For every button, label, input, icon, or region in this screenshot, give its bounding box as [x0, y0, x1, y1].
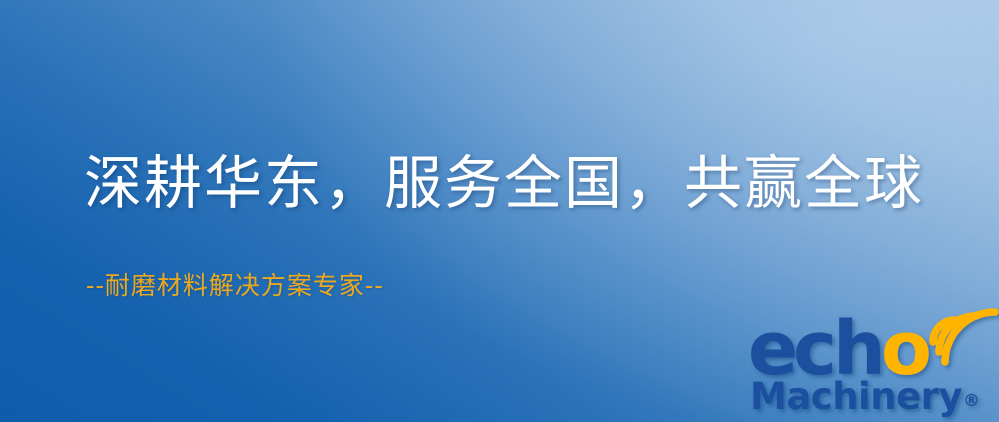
banner-subtitle: --耐磨材料解决方案专家--	[86, 266, 384, 302]
logo-machinery-text: Machinery	[750, 375, 962, 418]
wifi-signal-icon	[933, 312, 995, 362]
registered-trademark-icon: ®	[963, 391, 980, 411]
banner-headline: 深耕华东，服务全国，共赢全球	[84, 152, 924, 215]
promo-banner: 深耕华东，服务全国，共赢全球 --耐磨材料解决方案专家-- e c h	[0, 0, 999, 422]
echo-machinery-logo[interactable]: e c h o Machinery ®	[748, 296, 999, 422]
